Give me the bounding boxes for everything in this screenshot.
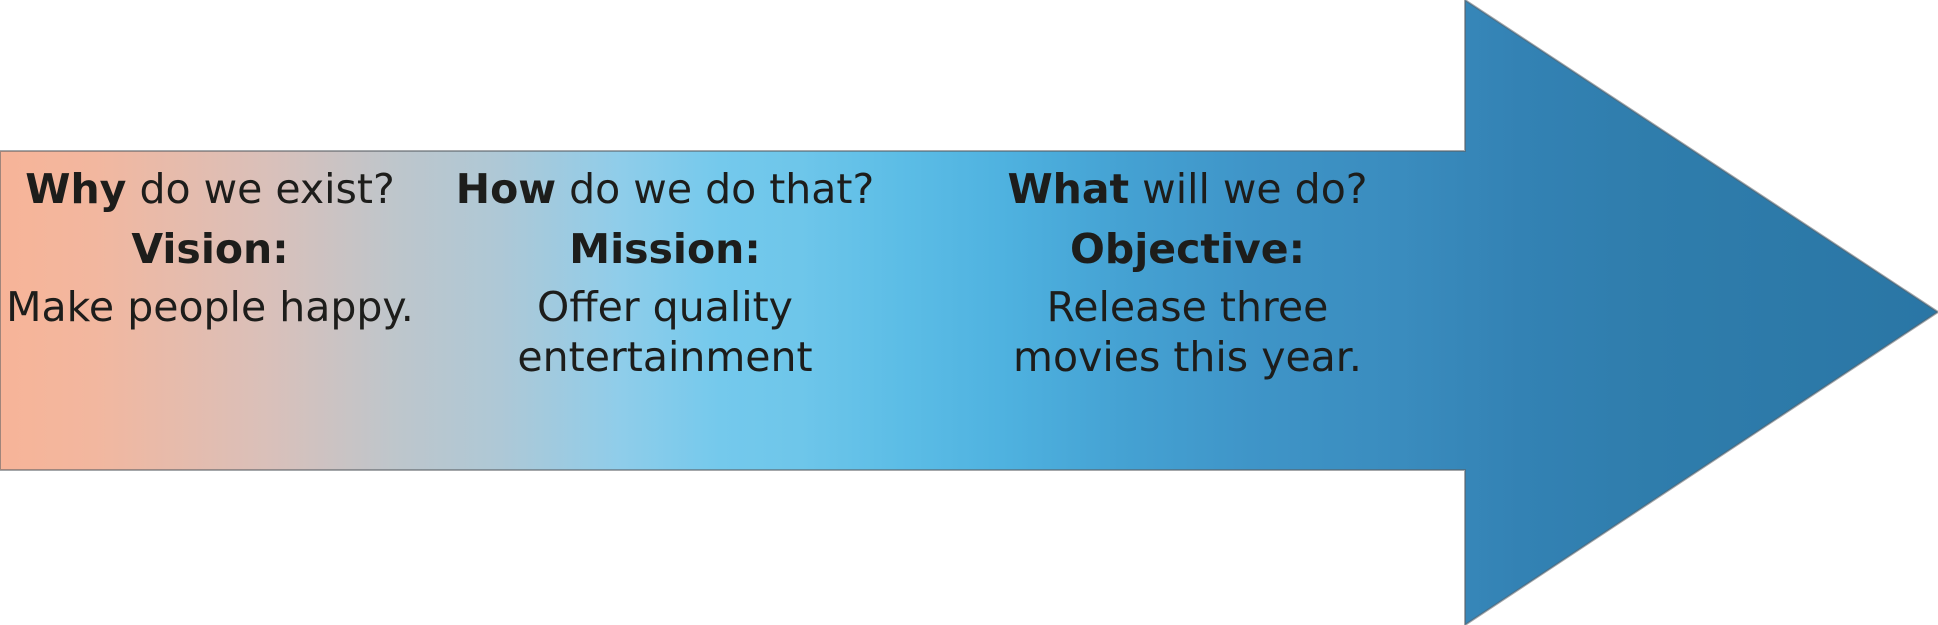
label-mission: Mission: xyxy=(420,219,910,280)
body-mission-line-1: Offer quality xyxy=(420,282,910,332)
question-what-rest: will we do? xyxy=(1129,165,1367,213)
question-how-lead: How xyxy=(456,165,556,213)
label-vision: Vision: xyxy=(0,219,420,280)
column-how: How do we do that? Mission: Offer qualit… xyxy=(420,151,910,382)
question-why-lead: Why xyxy=(25,165,126,213)
body-mission-line-2: entertainment xyxy=(420,332,910,382)
arrow-text-columns: Why do we exist? Vision: Make people hap… xyxy=(0,151,1465,470)
column-why: Why do we exist? Vision: Make people hap… xyxy=(0,151,420,332)
body-vision-line-1: Make people happy. xyxy=(0,282,420,332)
question-what: What will we do? xyxy=(910,159,1465,219)
arrow-diagram: Why do we exist? Vision: Make people hap… xyxy=(0,0,1938,625)
body-vision: Make people happy. xyxy=(0,282,420,332)
question-how: How do we do that? xyxy=(420,159,910,219)
question-what-lead: What xyxy=(1007,165,1129,213)
question-how-rest: do we do that? xyxy=(556,165,874,213)
body-objective-line-1: Release three xyxy=(910,282,1465,332)
question-why-rest: do we exist? xyxy=(126,165,394,213)
body-objective: Release three movies this year. xyxy=(910,282,1465,382)
body-mission: Offer quality entertainment xyxy=(420,282,910,382)
question-why: Why do we exist? xyxy=(0,159,420,219)
column-what: What will we do? Objective: Release thre… xyxy=(910,151,1465,382)
body-objective-line-2: movies this year. xyxy=(910,332,1465,382)
label-objective: Objective: xyxy=(910,219,1465,280)
